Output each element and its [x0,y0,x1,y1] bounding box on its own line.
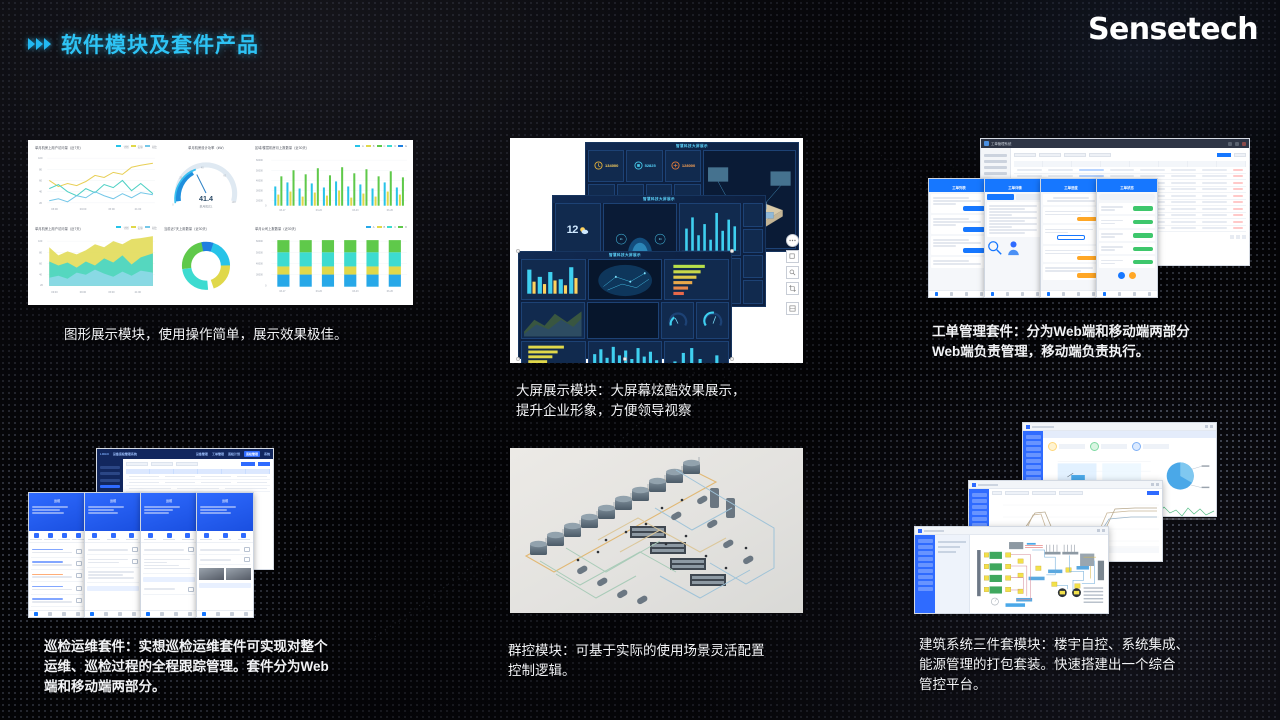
window-title: 工单管理系统 [991,141,1011,146]
svg-text:03:00: 03:00 [51,291,58,294]
close-icon[interactable] [1242,142,1246,146]
svg-text:21: 21 [619,238,622,241]
svg-text:03-17: 03-17 [279,209,286,212]
svg-text:09:00: 09:00 [80,207,87,211]
bigscreen-front[interactable]: 智慧科技大屏展示 [518,251,732,359]
sidebar-nav[interactable] [915,535,935,613]
svg-text:80: 80 [39,167,42,171]
svg-text:03-17: 03-17 [279,290,286,293]
svg-grouped-bar: 600005000040000 30000200000 [253,150,409,213]
screenshot-building-suite[interactable] [908,418,1223,618]
panel-line-chart: 单月机房上用户访问量（近7天） 计划实际对比 1008060 4020 [33,144,159,222]
svg-text:40000: 40000 [256,262,263,265]
triple-chevron-right-icon [28,38,51,50]
caption-work-order: 工单管理套件：分为Web端和移动端两部分 Web端负责管理，移动端负责执行。 [932,322,1267,362]
scada-body [935,535,1108,613]
trend-toolbar[interactable] [989,489,1162,497]
task-list[interactable] [29,543,85,609]
screenshot-work-order[interactable]: 工单管理系统 [928,130,1258,310]
svg-text:34: 34 [658,238,661,241]
submit-button[interactable] [199,583,251,588]
mobile-app-progress[interactable]: 工单进度 [1040,178,1102,298]
filter-row[interactable] [126,462,270,466]
window-titlebar [915,527,1108,535]
svg-text:15:00: 15:00 [108,207,115,211]
quick-actions[interactable] [29,531,85,543]
screenshot-hvac-diagram[interactable] [510,448,803,613]
toolbar-more-icon[interactable] [786,234,799,247]
action-button[interactable] [143,577,195,582]
svg-text:20: 20 [39,201,42,205]
panel-gauge: 单月机房设计功率（kW） 41.4 单月机房1 02040 60100 [162,144,250,222]
svg-text:0: 0 [265,285,267,288]
bar-series-group [274,167,404,205]
window-navbar[interactable]: LOGO设备巡检管理系统 设备管理工单管理巡检计划巡检管理系统 [97,449,273,459]
bas-scada-window[interactable] [914,526,1109,614]
svg-gauge: 41.4 单月机房1 02040 60100 [162,150,250,213]
svg-stacked-bar: 600005000040000 300000 03-1703-2003-2303… [253,231,409,294]
svg-text:03-23: 03-23 [352,290,359,293]
illustration [987,240,1043,256]
svg-text:40: 40 [39,274,42,277]
screenshot-inspection[interactable]: LOGO设备巡检管理系统 设备管理工单管理巡检计划巡检管理系统 [28,440,358,625]
minimize-icon[interactable] [1097,529,1100,532]
legend-area: 计划实际对比 [116,226,157,230]
selection-handle[interactable] [730,249,734,253]
mobile-inspection-photos[interactable]: 运维 [196,492,254,618]
svg-text:03-26: 03-26 [387,290,394,293]
gauge-unit: 单月机房1 [199,203,212,208]
svg-text:50000: 50000 [256,169,263,172]
svg-isometric-hvac [510,448,803,613]
svg-text:80: 80 [39,251,42,254]
kpi-icon [1090,442,1099,451]
svg-text:100: 100 [232,201,237,204]
search-input[interactable] [1099,194,1155,200]
image-toolbar[interactable] [786,234,799,315]
fab-alert-icon[interactable] [1129,272,1136,279]
device-tree[interactable] [935,535,970,613]
action-button[interactable] [1057,235,1085,240]
mobile-inspection-home[interactable]: 运维 [28,492,86,618]
selection-handle[interactable] [623,357,627,361]
legend-bar: AB CD E [355,145,407,148]
page-title: 软件模块及套件产品 [61,29,259,59]
svg-text:09:00: 09:00 [80,291,87,294]
svg-text:60000: 60000 [256,159,263,162]
caption-building-suite: 建筑系统三件套模块：楼宇自控、系统集成、 能源管理的打包套装。快速搭建出一个综合… [919,635,1269,695]
panel-grouped-bar: 区域/楼层机房月上报数量（近30天） AB CD E 6000050000400… [253,144,409,222]
selection-handle[interactable] [516,357,520,361]
svg-text:50000: 50000 [256,251,263,254]
tab-active[interactable] [987,194,1014,200]
panel-donut-chart: 当前近7天上用数量（近30天） [162,225,250,303]
svg-text:100: 100 [38,156,43,160]
mobile-inspection-record[interactable]: 运维 [140,492,198,618]
fab-add-icon[interactable] [1118,272,1125,279]
svg-text:30000: 30000 [256,274,263,277]
tab-inactive[interactable] [1016,194,1043,200]
app-hero: 运维 [29,493,85,531]
selection-handle[interactable] [730,357,734,361]
toolbar-copy-icon[interactable] [786,250,799,263]
caption-group-control: 群控模块：可基于实际的使用场景灵活配置 控制逻辑。 [508,641,843,681]
mobile-inspection-task[interactable]: 运维 [84,492,142,618]
minimize-icon[interactable] [1205,425,1208,428]
window-titlebar [969,481,1162,489]
toolbar-crop-icon[interactable] [786,282,799,295]
svg-area-chart: 10080604020 03:0009:0015:0021:00 [33,231,159,296]
panel-area-chart: 单月机房上用户访问量（近7天） 计划实际对比 10080604020 [33,225,159,303]
close-icon[interactable] [1156,483,1159,486]
svg-text:20: 20 [40,284,43,287]
mobile-app-status-list[interactable]: 工单状态 [1096,178,1158,298]
brand-logo: Sensetech [1088,12,1258,47]
mobile-app-home[interactable]: 工单列表 [928,178,990,298]
svg-text:0: 0 [172,203,174,206]
svg-text:20000: 20000 [256,200,263,203]
close-icon[interactable] [1102,529,1105,532]
svg-text:03-26: 03-26 [387,209,394,212]
caption-chart-display: 图形展示模块，使用操作简单，展示效果极佳。 [64,325,424,345]
page-header: 软件模块及套件产品 Sensetech [0,0,1280,70]
screenshot-video-wall[interactable]: 智慧科技大屏展示 134000 52825 [510,138,803,363]
close-icon[interactable] [1210,425,1213,428]
kpi-icon [1048,442,1057,451]
table-header [126,469,270,474]
table-header [1014,161,1246,167]
photo-thumb[interactable] [226,568,251,580]
svg-text:21:00: 21:00 [135,207,142,211]
kpi-icon [1132,442,1141,451]
svg-text:30000: 30000 [256,190,263,193]
svg-text:60: 60 [39,179,42,183]
selection-handle[interactable] [516,249,520,253]
svg-text:100: 100 [38,240,43,243]
svg-text:40: 40 [39,190,42,194]
photo-thumb[interactable] [199,568,224,580]
svg-text:03-20: 03-20 [316,290,323,293]
reset-button[interactable] [1234,153,1246,157]
screenshot-bi-dashboard[interactable]: 单月机房上用户访问量（近7天） 计划实际对比 1008060 4020 [28,140,413,305]
kpi-row [1043,438,1216,455]
svg-text:03-23: 03-23 [352,209,359,212]
photo-thumbnails[interactable] [199,568,251,580]
toolbar-search-icon[interactable] [786,266,799,279]
legend-line: 计划实际对比 [116,145,157,149]
svg-scada-schematic [970,535,1108,613]
svg-text:15:00: 15:00 [108,291,115,294]
window-titlebar: 工单管理系统 [981,139,1249,148]
gauge-value: 41.4 [199,195,213,203]
svg-line-chart: 1008060 4020 03:0009:0015:0021:00 [33,150,159,213]
svg-text:60000: 60000 [256,240,263,243]
app-logo-icon [984,141,989,146]
svg-text:60: 60 [39,263,42,266]
svg-text:0: 0 [265,205,267,208]
svg-text:21:00: 21:00 [135,291,142,294]
submit-button[interactable] [87,586,139,591]
window-titlebar [1023,423,1216,431]
query-button[interactable] [1147,491,1159,495]
minimize-icon[interactable] [1228,142,1232,146]
mobile-app-detail[interactable]: 工单详情 [984,178,1046,298]
minimize-icon[interactable] [1151,483,1154,486]
svg-text:03-20: 03-20 [316,209,323,212]
panel-stacked-bar: 单月公司上报数量（近30天） AB CD 600005000040000 300… [253,225,409,303]
legend-stacked: AB CD [366,226,407,229]
toolbar-layout-icon[interactable] [786,302,799,315]
filter-toolbar[interactable] [1014,151,1246,159]
maximize-icon[interactable] [1235,142,1239,146]
svg-text:40000: 40000 [256,179,263,182]
svg-donut-chart [162,231,250,294]
search-button[interactable] [1217,153,1231,157]
svg-text:03:00: 03:00 [51,207,58,211]
caption-big-screen: 大屏展示模块：大屏幕炫酷效果展示， 提升企业形象，方便领导视察 [516,381,846,421]
svg-pie-mini [1157,455,1211,497]
caption-inspection-ops: 巡检运维套件：实想巡检运维套件可实现对整个 运维、巡检过程的全程跟踪管理。套件分… [44,637,434,697]
title-row: 软件模块及套件产品 [28,29,259,59]
